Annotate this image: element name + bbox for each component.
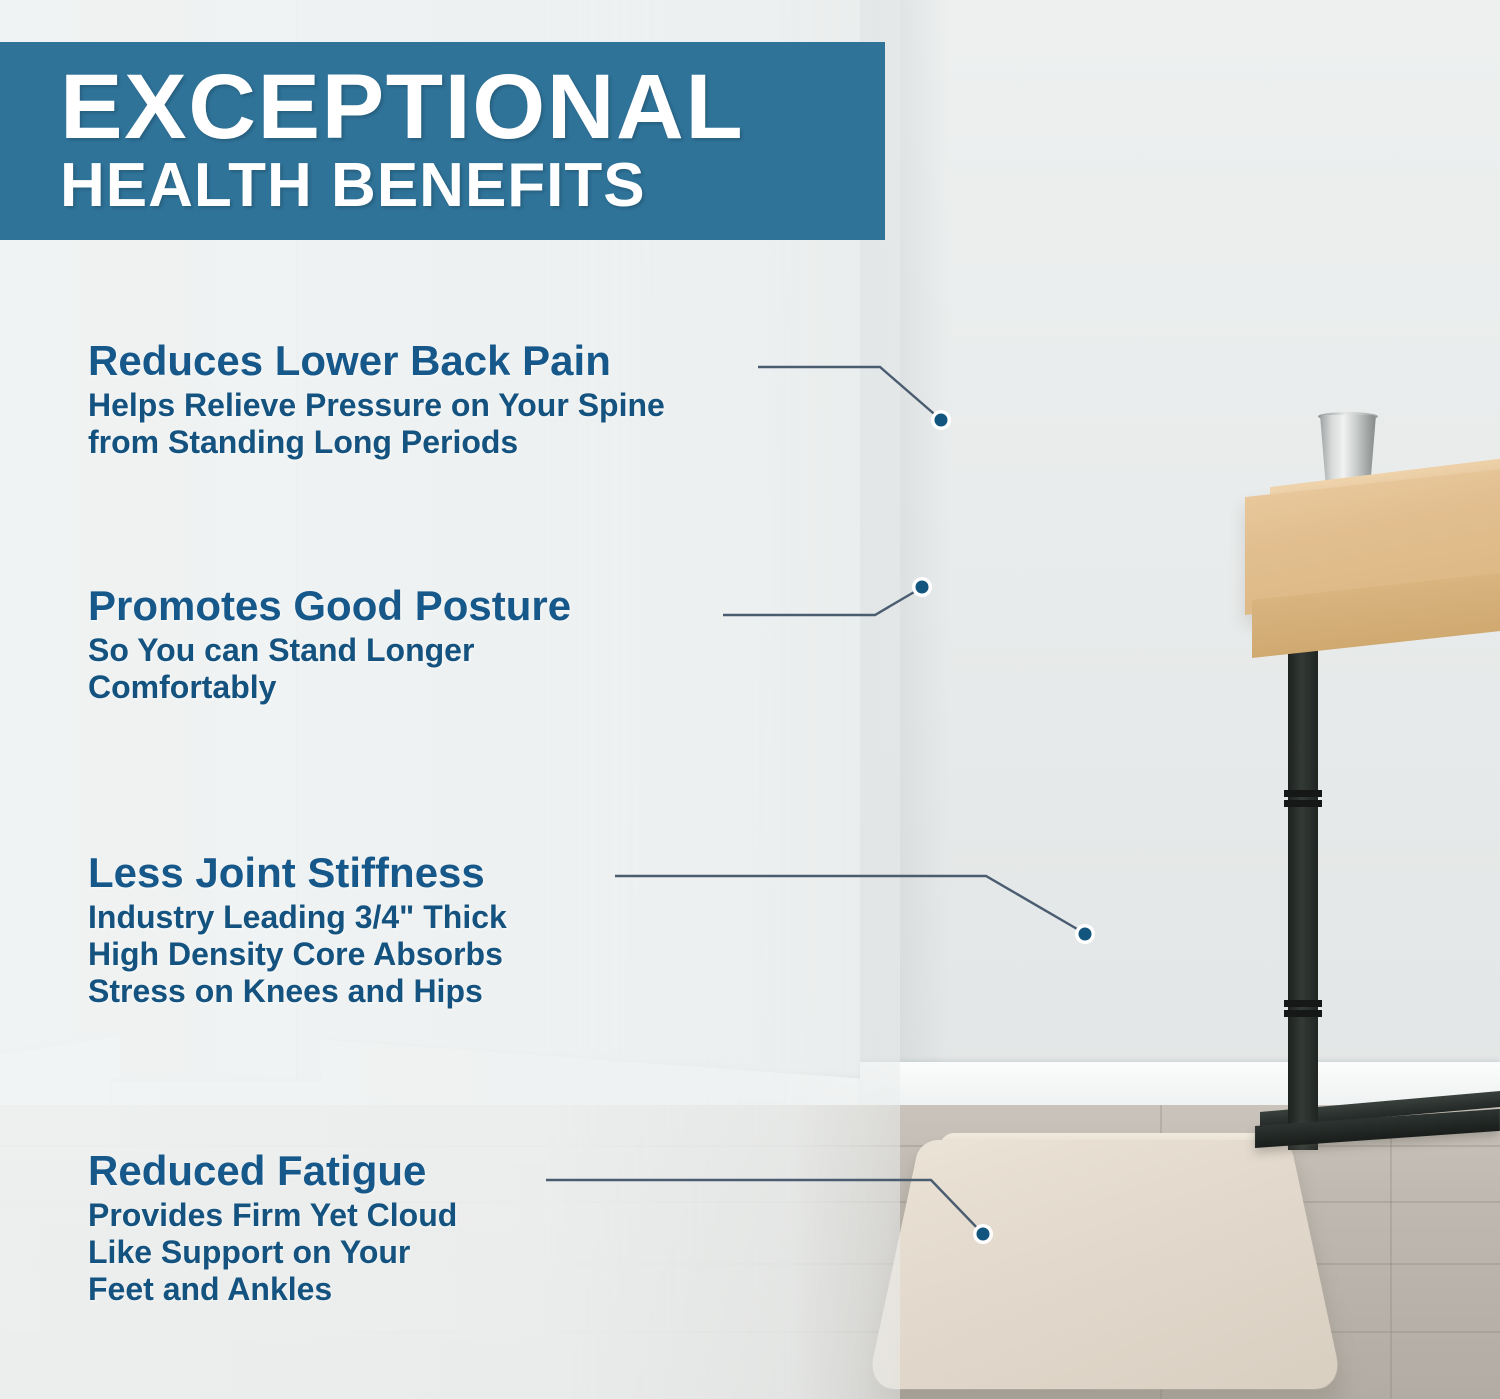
callout-promotes-good-posture: Promotes Good Posture So You can Stand L…: [88, 585, 571, 706]
callout-subtext-line: Like Support on Your: [88, 1234, 457, 1271]
callout-title: Reduces Lower Back Pain: [88, 340, 665, 383]
callout-subtext-line: High Density Core Absorbs: [88, 936, 507, 973]
callout-subtext: So You can Stand Longer Comfortably: [88, 632, 571, 706]
callout-subtext-line: Feet and Ankles: [88, 1271, 457, 1308]
banner-title-line2: HEALTH BENEFITS: [60, 155, 885, 217]
callout-reduces-lower-back-pain: Reduces Lower Back Pain Helps Relieve Pr…: [88, 340, 665, 461]
callout-subtext-line: Helps Relieve Pressure on Your Spine: [88, 387, 665, 424]
callout-title: Reduced Fatigue: [88, 1150, 457, 1193]
callout-subtext-line: Industry Leading 3/4" Thick: [88, 899, 507, 936]
callout-title: Promotes Good Posture: [88, 585, 571, 628]
callout-title: Less Joint Stiffness: [88, 852, 507, 895]
callout-subtext-line: from Standing Long Periods: [88, 424, 665, 461]
callout-subtext-line: Stress on Knees and Hips: [88, 973, 507, 1010]
banner-title-line1: EXCEPTIONAL: [60, 65, 902, 150]
callout-subtext: Industry Leading 3/4" Thick High Density…: [88, 899, 507, 1010]
callout-subtext-line: Comfortably: [88, 669, 571, 706]
infographic-canvas: EXCEPTIONAL HEALTH BENEFITS Reduces Lowe…: [0, 0, 1500, 1399]
person-standing: [955, 40, 1285, 1360]
callout-subtext: Helps Relieve Pressure on Your Spine fro…: [88, 387, 665, 461]
callout-less-joint-stiffness: Less Joint Stiffness Industry Leading 3/…: [88, 852, 507, 1010]
callout-subtext-line: Provides Firm Yet Cloud: [88, 1197, 457, 1234]
callout-subtext: Provides Firm Yet Cloud Like Support on …: [88, 1197, 457, 1308]
desk-leg: [1288, 650, 1318, 1150]
header-banner: EXCEPTIONAL HEALTH BENEFITS: [0, 42, 885, 240]
callout-subtext-line: So You can Stand Longer: [88, 632, 571, 669]
callout-reduced-fatigue: Reduced Fatigue Provides Firm Yet Cloud …: [88, 1150, 457, 1308]
